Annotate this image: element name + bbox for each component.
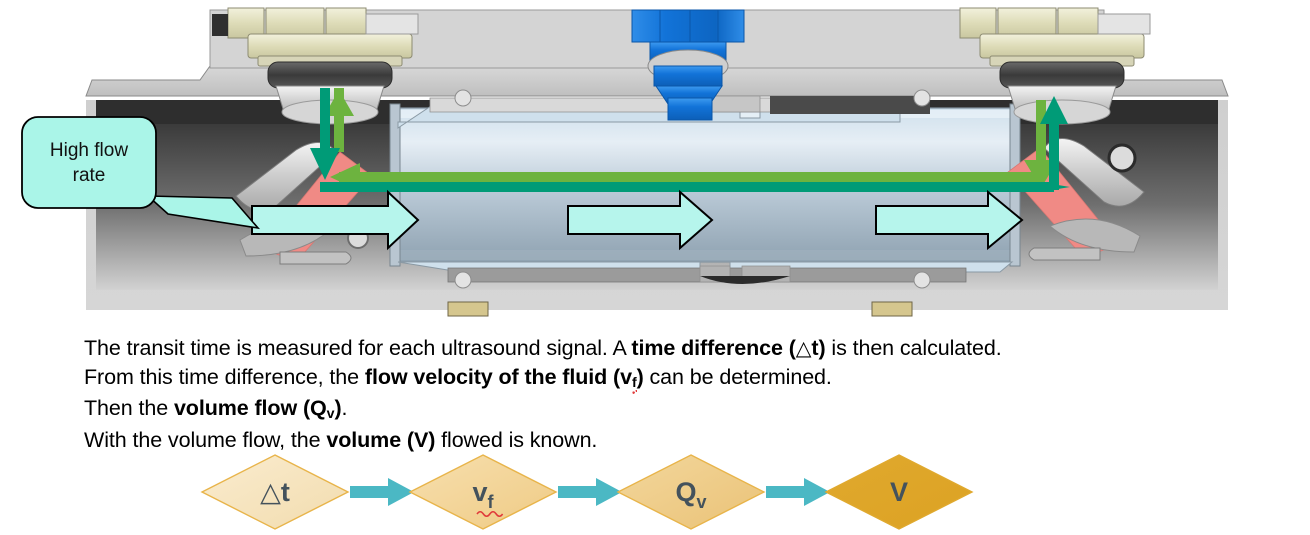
flow-connector-3: [766, 478, 830, 506]
line-3: Then the volume flow (Qv).: [84, 394, 1244, 426]
explanatory-paragraph: The transit time is measured for each ul…: [84, 334, 1244, 454]
flow-connector-2: [558, 478, 622, 506]
derivation-flow-chain: △tvfQvV: [196, 450, 1096, 535]
diamond-label: △t: [260, 477, 290, 508]
node-v: V: [826, 455, 972, 529]
flow-connector-1: [350, 478, 414, 506]
callout-line-1: High flow: [50, 140, 128, 161]
bottom-pad-left: [448, 302, 488, 316]
node-qv: Qv: [618, 455, 764, 529]
callout-bubble: [22, 117, 156, 208]
node-delta-t: △t: [202, 455, 348, 529]
flow-meter-illustration: High flow rate: [0, 0, 1310, 320]
line-1: The transit time is measured for each ul…: [84, 334, 1244, 363]
callout-line-2: rate: [73, 165, 106, 186]
diamond-label: V: [890, 477, 908, 507]
node-vf: vf: [410, 455, 556, 529]
line-2: From this time difference, the flow velo…: [84, 363, 1244, 395]
bottom-pad-right: [872, 302, 912, 316]
